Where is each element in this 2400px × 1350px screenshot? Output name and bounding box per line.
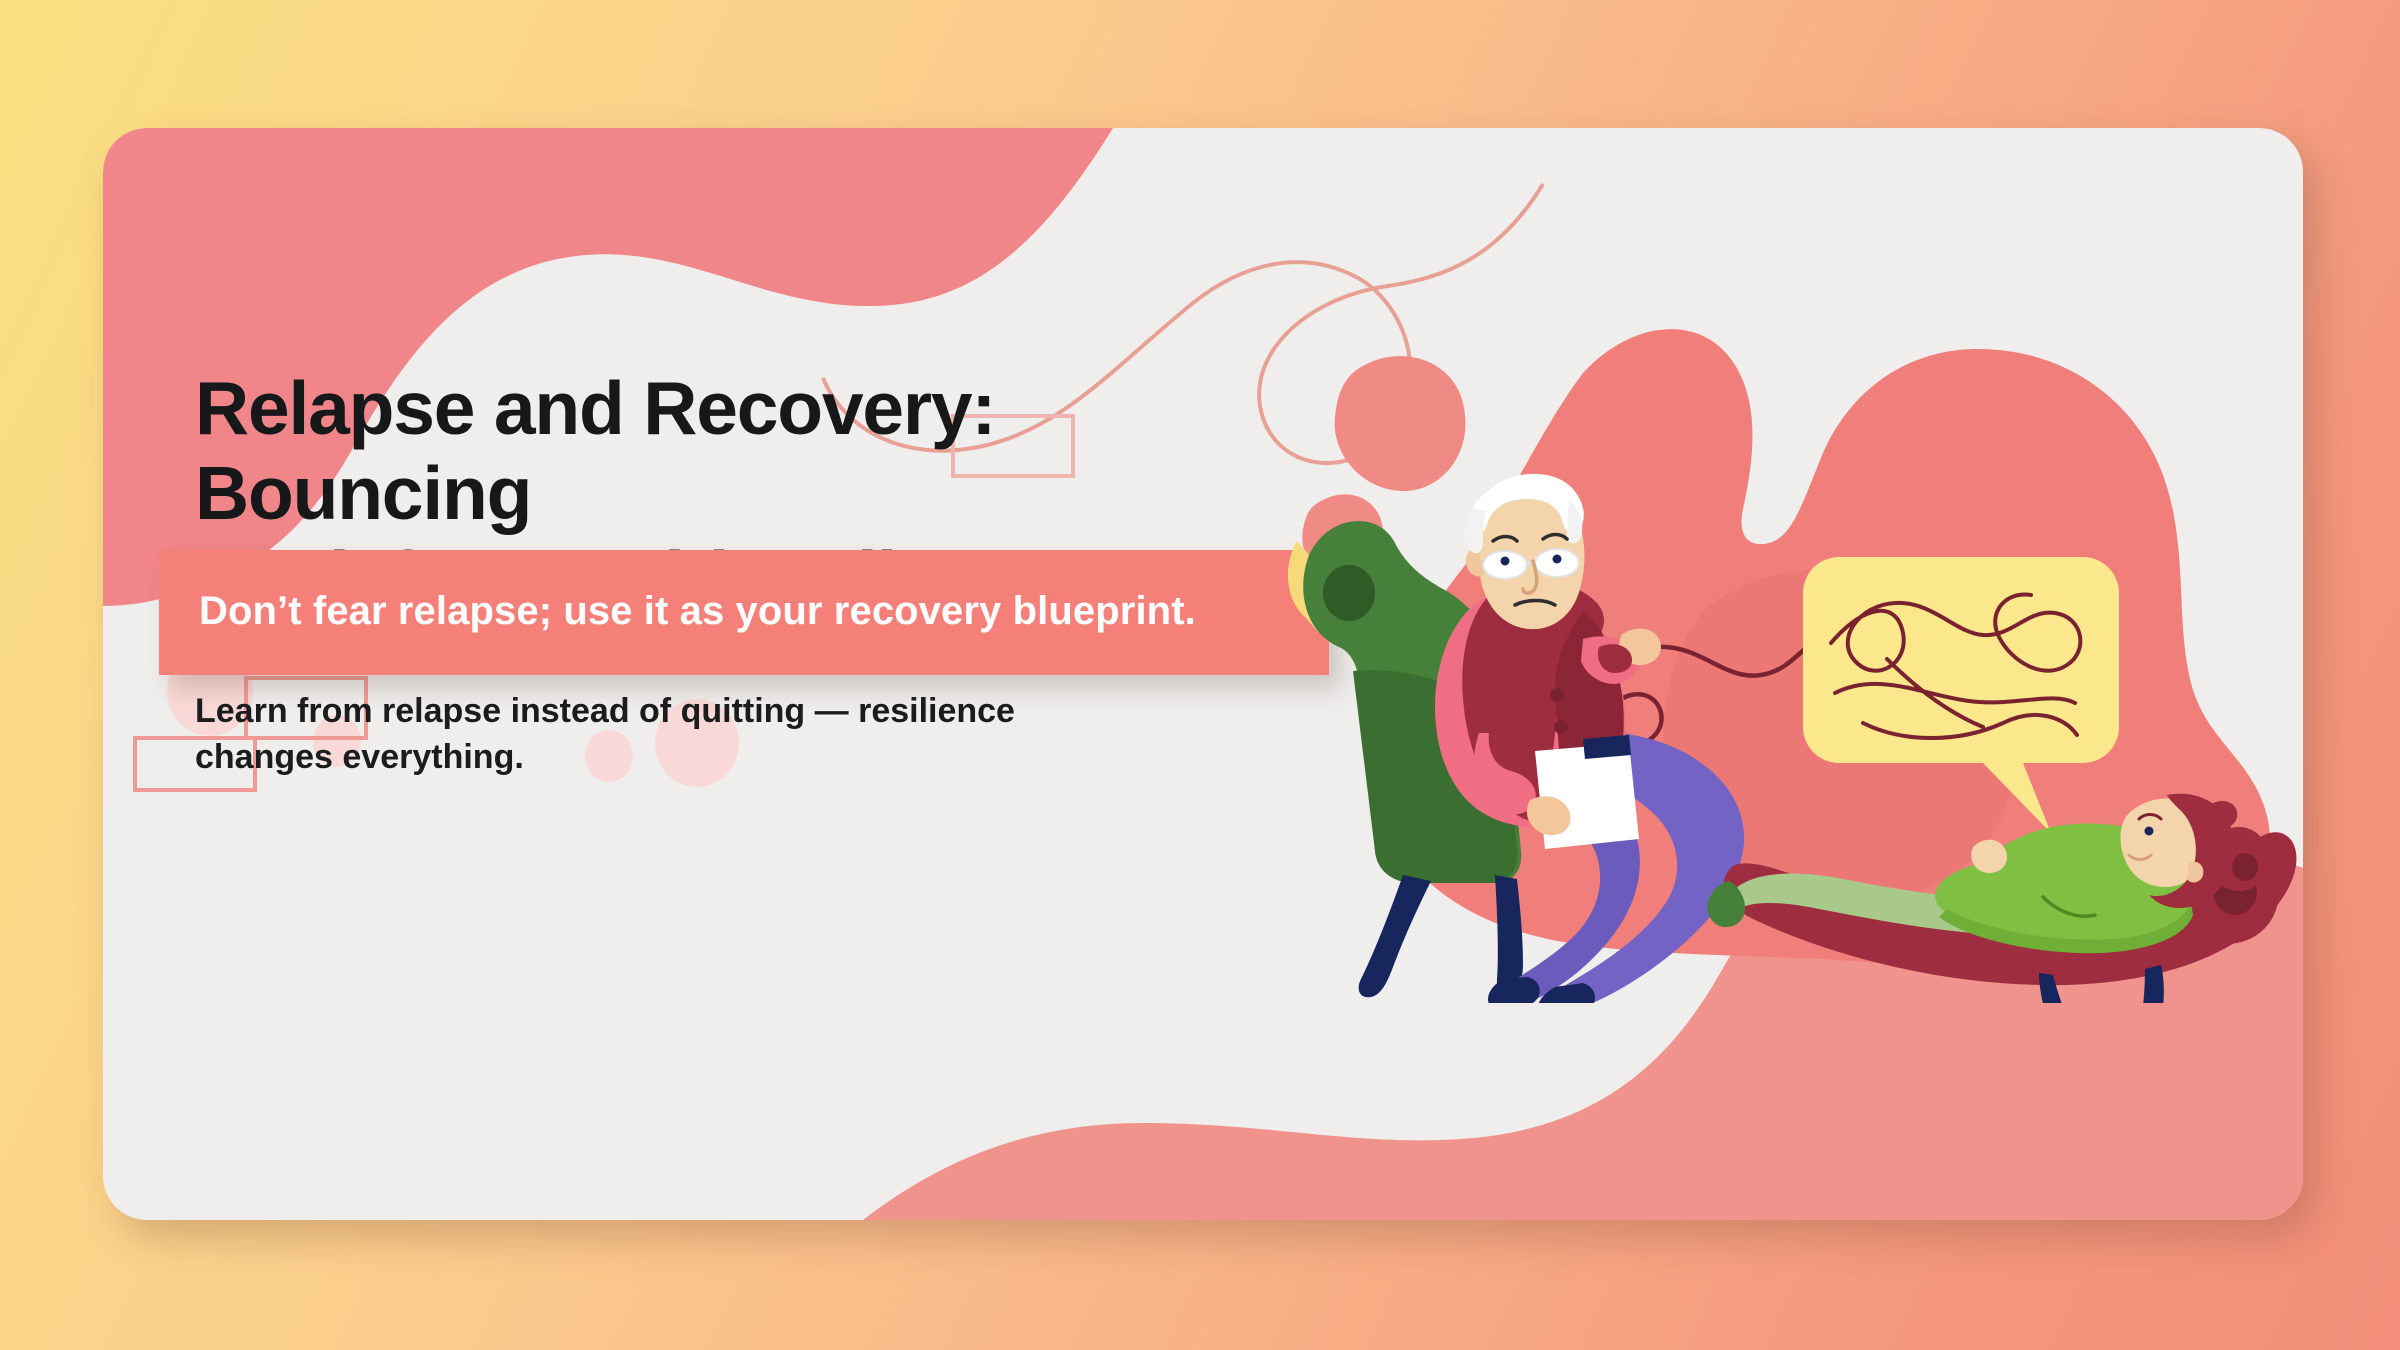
callout-text: Don’t fear relapse; use it as your recov… [199,584,1289,639]
slide-canvas: Relapse and Recovery: Bouncing Back from… [0,0,2400,1350]
chair-leg-left [1359,875,1431,997]
callout-banner: Don’t fear relapse; use it as your recov… [159,550,1329,675]
card-clip: Relapse and Recovery: Bouncing Back from… [103,128,2303,1220]
pebble-large [1335,356,1466,491]
therapy-illustration [1283,303,2303,1003]
content-card: Relapse and Recovery: Bouncing Back from… [103,128,2303,1220]
